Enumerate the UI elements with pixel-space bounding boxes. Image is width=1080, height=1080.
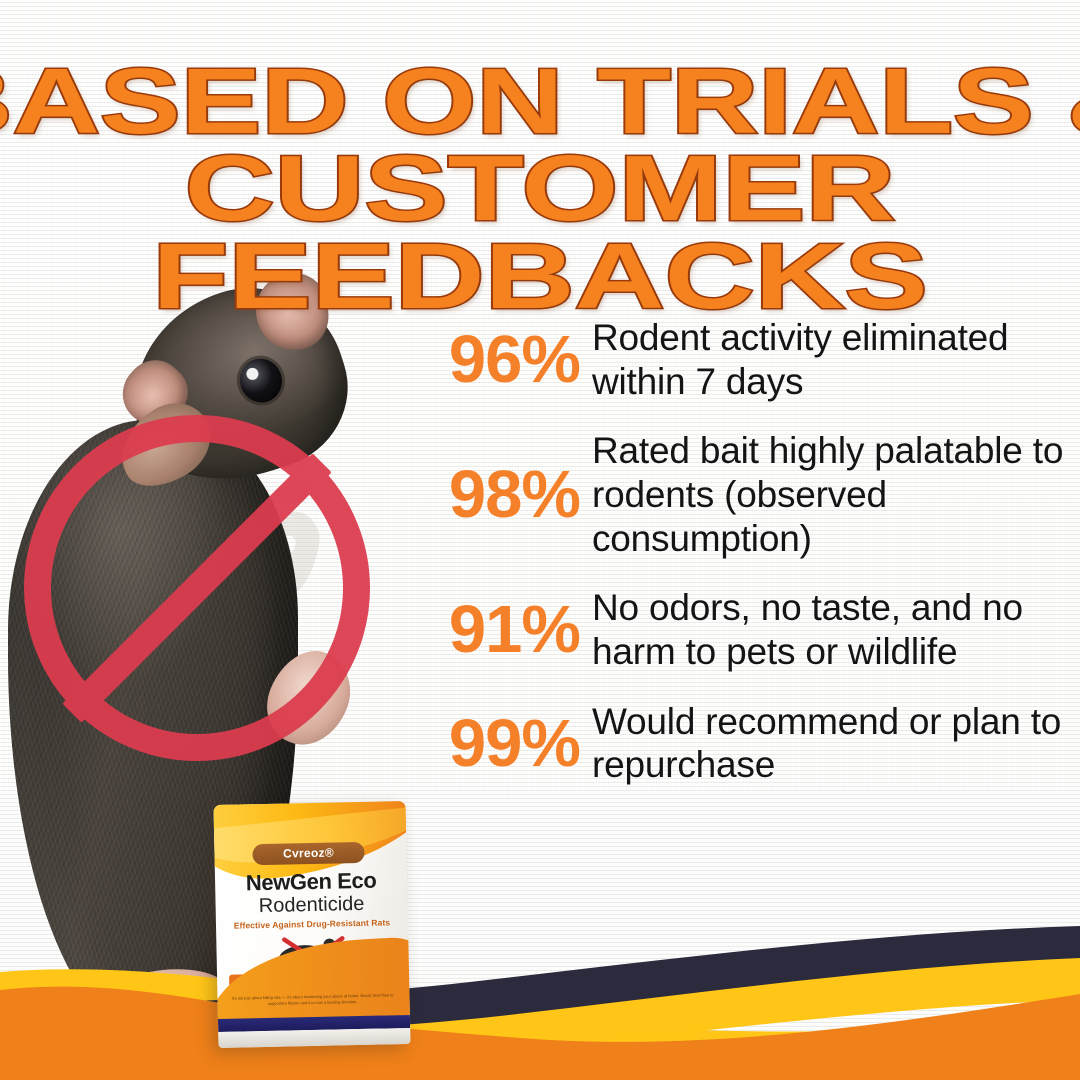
headline-line-1: BASED ON TRIALS & <box>0 58 1080 145</box>
stat-description: Rodent activity eliminated within 7 days <box>592 316 1072 403</box>
prohibition-icon <box>24 415 370 761</box>
bottom-wave-decoration <box>0 920 1080 1080</box>
stat-row: 96% Rodent activity eliminated within 7 … <box>432 316 1072 403</box>
product-tagline: Effective Against Drug-Resistant Rats <box>216 917 408 931</box>
stat-percentage: 91% <box>432 596 592 663</box>
statistics-list: 96% Rodent activity eliminated within 7 … <box>432 316 1072 813</box>
headline-line-2: CUSTOMER FEEDBACKS <box>0 145 1080 320</box>
packet-lower-band <box>213 936 410 1026</box>
stat-description: Rated bait highly palatable to rodents (… <box>592 429 1072 560</box>
poster-canvas: ف ف ف BASED ON TRIALS & CUSTOMER FEEDBAC… <box>0 0 1080 1080</box>
headline: BASED ON TRIALS & CUSTOMER FEEDBACKS <box>0 58 1080 320</box>
prohibition-slash <box>62 453 331 722</box>
stat-percentage: 99% <box>432 710 592 777</box>
product-packet: Cvreoz® NewGen Eco Rodenticide Effective… <box>213 801 410 1048</box>
stat-row: 98% Rated bait highly palatable to roden… <box>432 429 1072 560</box>
brand-badge: Cvreoz® <box>252 842 364 865</box>
rat-eye <box>234 353 288 408</box>
stat-description: Would recommend or plan to repurchase <box>592 700 1072 787</box>
stat-percentage: 96% <box>432 326 592 393</box>
stat-row: 91% No odors, no taste, and no harm to p… <box>432 586 1072 673</box>
stat-percentage: 98% <box>432 461 592 528</box>
stat-description: No odors, no taste, and no harm to pets … <box>592 586 1072 673</box>
stat-row: 99% Would recommend or plan to repurchas… <box>432 700 1072 787</box>
product-subtitle: Rodenticide <box>215 892 407 919</box>
